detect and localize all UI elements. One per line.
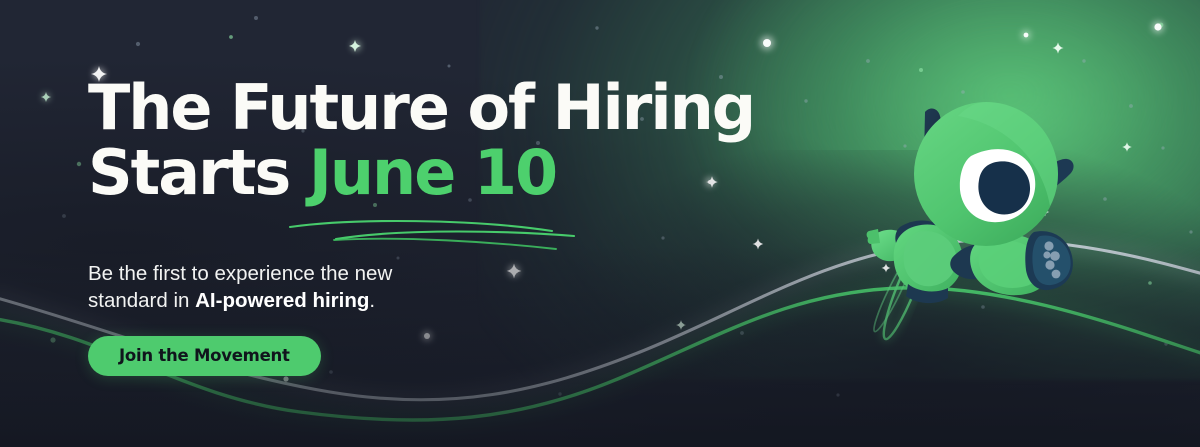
page-title: The Future of Hiring Starts June 10 — [88, 78, 788, 204]
subtitle-part-2: . — [369, 289, 375, 312]
mascot-robot — [856, 86, 1096, 316]
headline-line-1: The Future of Hiring — [88, 71, 754, 144]
headline-line-2: Starts June 10 — [88, 143, 788, 204]
join-the-movement-button[interactable]: Join the Movement — [88, 336, 321, 376]
mascot-head — [914, 102, 1058, 246]
promo-banner: The Future of Hiring Starts June 10 Be t… — [0, 0, 1200, 447]
banner-subtitle: Be the first to experience the new stand… — [88, 260, 468, 314]
banner-content: The Future of Hiring Starts June 10 Be t… — [88, 78, 788, 376]
subtitle-bold: AI-powered hiring — [195, 289, 369, 312]
headline-underline — [284, 209, 584, 253]
headline-prefix: Starts — [88, 136, 309, 209]
headline-accent-date: June 10 — [309, 136, 556, 209]
